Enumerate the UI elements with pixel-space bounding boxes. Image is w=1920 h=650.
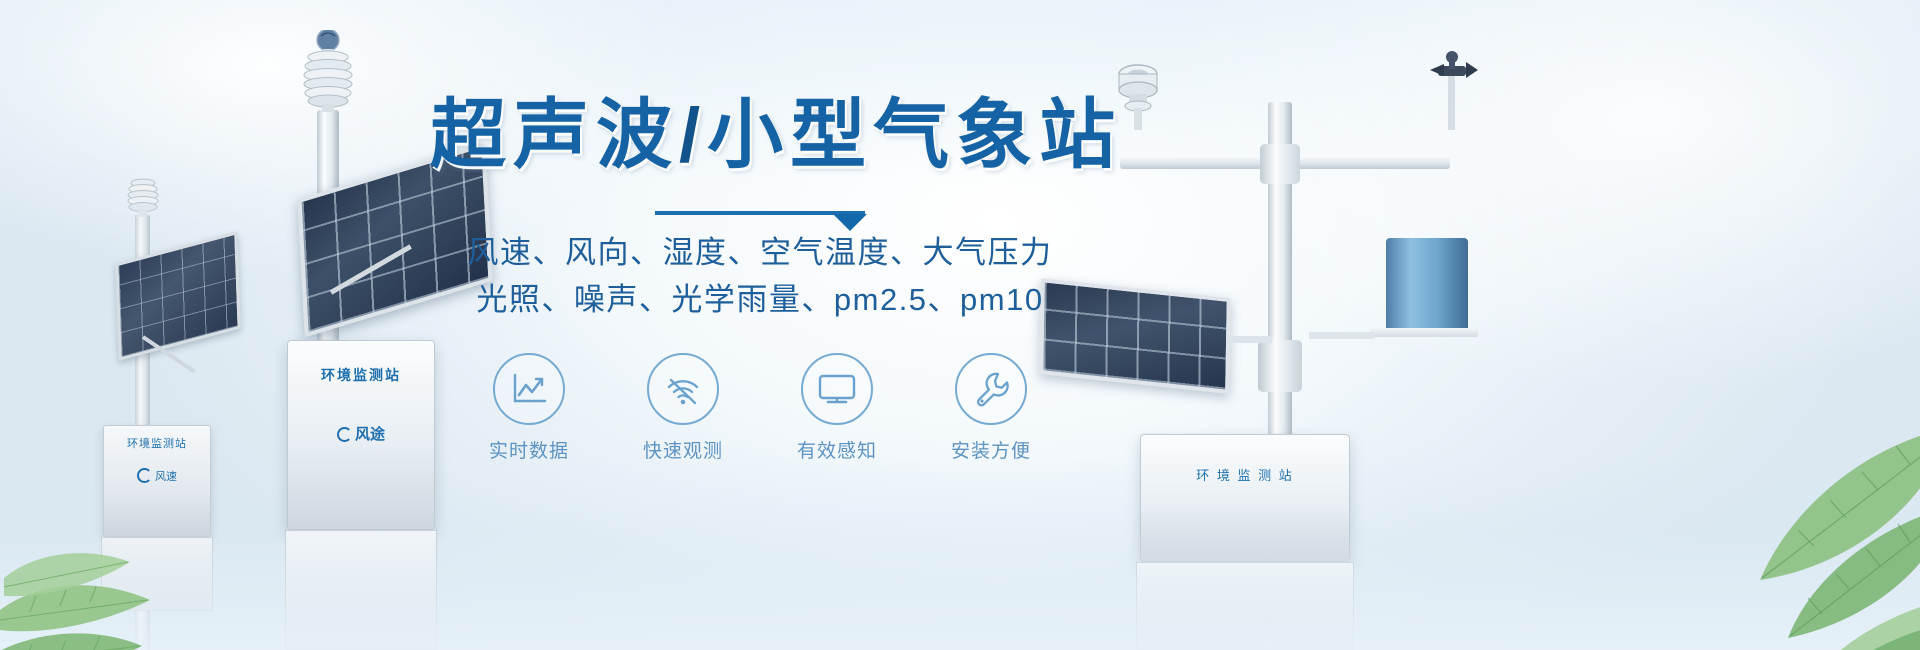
enclosure-label-small: 环境监测站 (104, 435, 210, 451)
title-part-2: 小型气象站 (707, 93, 1122, 178)
enclosure-small: 环境监测站 风速 (103, 425, 211, 537)
enclosure-main: 环境监测站 风途 (287, 340, 435, 530)
line-chart-icon (509, 371, 549, 407)
feature-circle (647, 353, 719, 425)
enclosure-base-small (101, 537, 213, 611)
sensor-shelf-arm (1309, 332, 1375, 339)
brand-text-small: 风速 (155, 471, 177, 483)
feature-label: 快速观测 (627, 436, 739, 463)
mast-collar-lower (1258, 340, 1302, 392)
sensor-shelf (1370, 328, 1478, 337)
weather-station-pole-small: 环境监测站 风速 (95, 175, 270, 650)
page-title: 超声波/小型气象站 (430, 96, 1090, 177)
radiation-shield-sensor-main (291, 30, 365, 112)
divider-triangle-icon (833, 214, 867, 231)
enclosure-label-main: 环境监测站 (288, 365, 434, 385)
feature-circle (801, 353, 873, 425)
title-divider (655, 211, 865, 215)
subtitle-block: 风速、风向、湿度、空气温度、大气压力 光照、噪声、光学雨量、pm2.5、pm10 (430, 229, 1090, 323)
feature-item-easy-install[interactable]: 安装方便 (935, 353, 1047, 463)
enclosure-label-tower: 环 境 监 测 站 (1141, 465, 1349, 484)
brand-text-main: 风途 (355, 426, 385, 443)
wifi-signal-icon (663, 370, 703, 408)
feature-item-effective-sensing[interactable]: 有效感知 (781, 353, 893, 463)
weather-station-tower-right: 环 境 监 测 站 (1100, 40, 1480, 650)
brand-logo-small: 风速 (104, 468, 210, 484)
feature-item-realtime-data[interactable]: 实时数据 (473, 353, 585, 463)
title-slash: / (679, 93, 707, 178)
mast-collar-upper (1260, 144, 1300, 184)
banner-text-block: 超声波/小型气象站 风速、风向、湿度、空气温度、大气压力 光照、噪声、光学雨量、… (430, 96, 1090, 463)
subtitle-line-2: 光照、噪声、光学雨量、pm2.5、pm10 (430, 276, 1090, 323)
wind-vane-sensor-icon (1424, 48, 1480, 130)
title-part-1: 超声波 (430, 93, 679, 178)
enclosure-base-main (285, 530, 437, 650)
product-banner: 环境监测站 风速 环境监测站 风途 (0, 0, 1920, 650)
feature-list: 实时数据 快速观测 (430, 353, 1090, 463)
enclosure-base-tower (1136, 562, 1354, 650)
enclosure-tower: 环 境 监 测 站 (1140, 434, 1350, 562)
rain-gauge-bucket (1386, 238, 1468, 330)
wrench-icon (971, 369, 1011, 409)
brand-mark-icon (337, 427, 352, 442)
feature-item-fast-observation[interactable]: 快速观测 (627, 353, 739, 463)
feature-circle (493, 353, 565, 425)
solar-panel-arm (1226, 336, 1272, 343)
feature-circle (955, 353, 1027, 425)
brand-logo-main: 风途 (288, 423, 434, 444)
feature-label: 安装方便 (935, 436, 1047, 463)
radiation-shield-sensor-small (122, 178, 164, 218)
brand-mark-icon (137, 468, 152, 483)
feature-label: 实时数据 (473, 436, 585, 463)
monitor-screen-icon (816, 372, 858, 406)
subtitle-line-1: 风速、风向、湿度、空气温度、大气压力 (430, 229, 1090, 276)
feature-label: 有效感知 (781, 436, 893, 463)
tropical-leaf-right-decoration (1610, 390, 1920, 650)
